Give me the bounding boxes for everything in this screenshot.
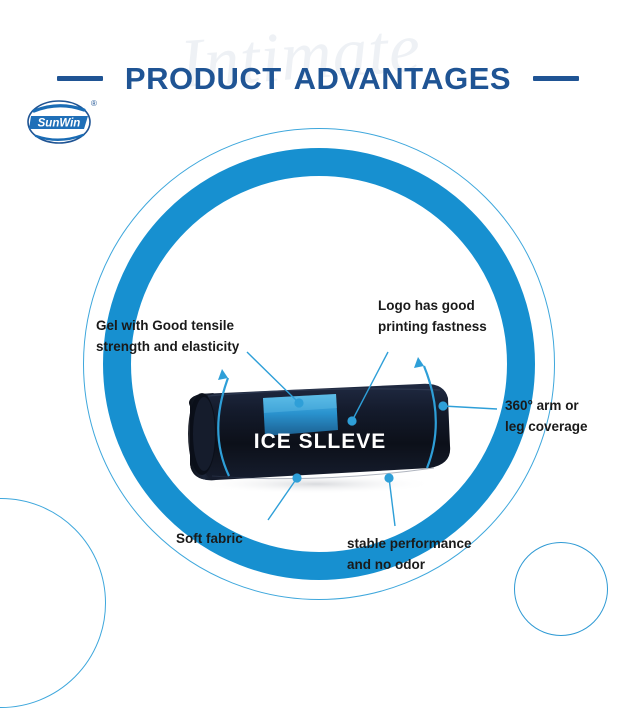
decorative-bottom-right-circle — [514, 542, 608, 636]
callout-logo-line2: printing fastness — [378, 317, 487, 338]
callout-stable-performance: stable performance and no odor — [347, 534, 472, 576]
page-header: PRODUCTADVANTAGES — [0, 56, 636, 100]
callout-logo-line1: Logo has good — [378, 296, 487, 317]
callout-gel-line2: strength and elasticity — [96, 337, 239, 358]
callout-coverage-line2: leg coverage — [505, 417, 588, 438]
header-rule-left — [57, 76, 103, 81]
decorative-bottom-left-circle — [0, 498, 106, 708]
product-advantages-infographic: Intimate PRODUCTADVANTAGES SunWin ® — [0, 0, 636, 714]
registered-trademark-icon: ® — [91, 99, 97, 108]
page-title: PRODUCTADVANTAGES — [125, 63, 511, 94]
callout-soft-fabric: Soft fabric — [176, 529, 243, 550]
callout-gel: Gel with Good tensile strength and elast… — [96, 316, 239, 358]
page-title-word-2: ADVANTAGES — [294, 61, 511, 96]
header-rule-right — [533, 76, 579, 81]
page-title-word-1: PRODUCT — [125, 61, 282, 96]
decorative-main-ring — [103, 148, 535, 580]
brand-logo: SunWin ® — [26, 96, 98, 146]
product-illustration: ICE SLLEVE — [168, 368, 458, 498]
callout-coverage: 360° arm or leg coverage — [505, 396, 588, 438]
callout-stable-line2: and no odor — [347, 555, 472, 576]
callout-gel-line1: Gel with Good tensile — [96, 316, 239, 337]
callout-logo-printing: Logo has good printing fastness — [378, 296, 487, 338]
product-name-text: ICE SLLEVE — [254, 430, 387, 453]
logo-brand-text: SunWin — [38, 118, 81, 130]
callout-stable-line1: stable performance — [347, 534, 472, 555]
callout-coverage-line1: 360° arm or — [505, 396, 588, 417]
callout-soft-line1: Soft fabric — [176, 529, 243, 550]
